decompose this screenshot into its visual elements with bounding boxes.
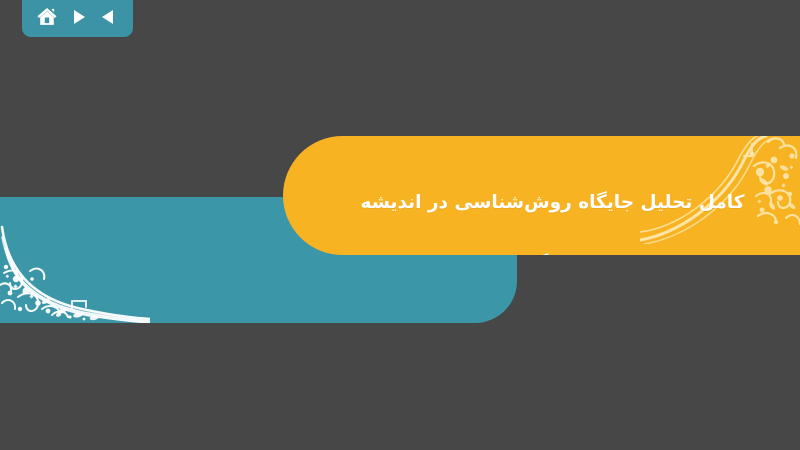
previous-button[interactable] bbox=[96, 4, 122, 30]
slide-title: کامل تحلیل جایگاه روش‌شناسی در اندیشه ان… bbox=[323, 156, 782, 255]
slide-navigation-bar bbox=[22, 0, 133, 37]
next-button[interactable] bbox=[65, 4, 91, 30]
triangle-right-icon bbox=[68, 7, 88, 27]
arabesque-corner-ornament-teal bbox=[0, 223, 150, 323]
slide-title-line-1: کامل تحلیل جایگاه روش‌شناسی در اندیشه bbox=[323, 187, 782, 218]
title-banner: کامل تحلیل جایگاه روش‌شناسی در اندیشه ان… bbox=[283, 136, 800, 255]
home-button[interactable] bbox=[34, 4, 60, 30]
triangle-left-icon bbox=[99, 7, 119, 27]
slide-canvas: کامل تحلیل جایگاه روش‌شناسی در اندیشه ان… bbox=[0, 0, 800, 450]
slide-title-line-2: انتقادی با تمرکز بر دیدگاه‌های فلسفی مدر… bbox=[323, 249, 782, 255]
home-icon bbox=[36, 6, 58, 28]
